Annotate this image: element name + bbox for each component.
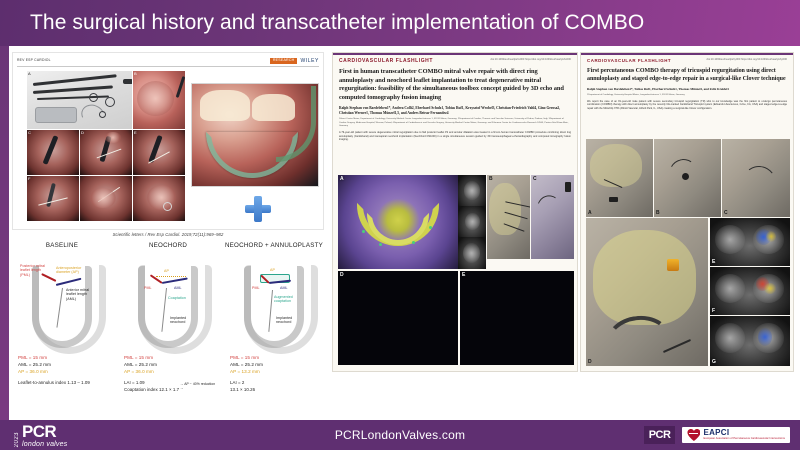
- figure-panel-step: C: [27, 130, 79, 175]
- panel-label: E: [134, 130, 137, 135]
- paper-title: First in human transcatheter COMBO mitra…: [333, 64, 577, 102]
- catheter: [532, 192, 570, 235]
- heart-icon: [687, 429, 700, 441]
- mechanism-diagram-row: BASELINE Posterior mitral leaflet length…: [12, 242, 324, 410]
- journal-header-right: RESEARCH WILEY: [270, 58, 319, 64]
- leaflet: [200, 90, 250, 121]
- anchor-marker: [412, 241, 415, 244]
- ct-structure: [464, 181, 481, 200]
- diagram-neochord: NEOCHORD AP PML AML Coaptation Implanted…: [118, 242, 218, 410]
- eapci-subtitle: European Association of Percutaneous Car…: [703, 438, 785, 441]
- panel-label: E: [462, 272, 465, 278]
- reduction-arrow-note: → AP − 40% reduction →: [180, 382, 218, 391]
- panel-label: E: [712, 259, 715, 265]
- figure-panel-ct-slice: [458, 237, 486, 269]
- delivery-device: [609, 197, 618, 202]
- instrument-ring: [105, 97, 115, 107]
- figure-panel-step: F: [27, 176, 79, 221]
- panel-label: B: [134, 71, 137, 76]
- echo-structure: [715, 323, 745, 353]
- paper-section-label: CARDIOVASCULAR FLASHLIGHT: [587, 58, 671, 63]
- instrument-plate: [35, 107, 77, 123]
- paper-doi: doi:10.1093/eurheartj/ehy000 https://doi…: [707, 58, 787, 62]
- instrument-shaft: [33, 85, 113, 94]
- journal-badge: RESEARCH: [270, 58, 298, 64]
- paper-authors: Ralph Stephan von Bardeleben1*, Tobias R…: [581, 83, 793, 91]
- neochord-thread: [39, 198, 68, 206]
- annotation-neochord: Implanted neochord: [276, 316, 300, 325]
- panel-label: C: [533, 176, 537, 182]
- mitraclip-device: [667, 259, 679, 271]
- footer-logos: PCR EAPCI European Association of Percut…: [644, 426, 790, 444]
- figure-panel-step: E: [133, 130, 185, 175]
- panel-label: C: [724, 210, 728, 216]
- cardiac-silhouette: [593, 230, 695, 325]
- instrument-ring: [99, 111, 106, 118]
- surgical-figure-grid: A B C: [27, 71, 185, 219]
- anchor-marker: [362, 230, 365, 233]
- panel-label: D: [588, 359, 592, 365]
- figure-panel-step: D: [80, 130, 132, 175]
- catheter: [276, 86, 316, 162]
- annotation-aml: Anterior mitral leaflet length (AML): [66, 288, 92, 301]
- flow-jet: [764, 283, 775, 294]
- instrument-tip: [123, 79, 132, 84]
- figure-panel-fluoro: C: [531, 175, 574, 259]
- annotation-ap: AP: [164, 269, 169, 273]
- panel-label: C: [28, 130, 31, 135]
- annotation-ap: Anteroposterior diameter (AP): [56, 266, 86, 275]
- figure-panel-echo: F: [710, 267, 790, 315]
- figure-panel-fluoro: B: [654, 139, 721, 217]
- echo-structure: [715, 225, 745, 254]
- annotation-aml: AML: [280, 286, 288, 290]
- stat-pml: PML = 15 mm: [18, 354, 112, 361]
- stat-aml: AML = 25.2 mm: [124, 361, 218, 368]
- paper-card-tricuspid: CARDIOVASCULAR FLASHLIGHT doi:10.1093/eu…: [580, 52, 794, 372]
- panel-label: F: [28, 176, 30, 181]
- annotation-coaptation: Coaptation: [168, 296, 186, 300]
- delivery-device: [565, 182, 571, 192]
- eapci-text: EAPCI European Association of Percutaneo…: [703, 429, 785, 441]
- stat-pml: PML = 15 mm: [124, 354, 218, 361]
- diagram-baseline: BASELINE Posterior mitral leaflet length…: [12, 242, 112, 410]
- diagram-neochord-annuloplasty: NEOCHORD + ANNULOPLASTY AP PML AML Augme…: [224, 242, 324, 410]
- panel-label: A: [28, 71, 31, 76]
- ap-dimension: [156, 276, 186, 277]
- neochord-thread: [96, 149, 121, 159]
- suture-knot: [163, 202, 172, 211]
- stat-aml: AML = 25.2 mm: [18, 361, 112, 368]
- annotation-coaptation: Augmented coaptation: [274, 295, 298, 304]
- left-column: REV ESP CARDIOL RESEARCH WILEY A: [12, 52, 324, 414]
- cardiac-silhouette: [590, 144, 642, 188]
- instrument-shaft: [37, 95, 109, 100]
- page-title: The surgical history and transcatheter i…: [0, 11, 644, 35]
- annotation-aml: AML: [174, 286, 182, 290]
- surgical-instrument: [46, 183, 56, 207]
- figure-panel-step: [133, 176, 185, 221]
- figure-panel-ct-slice: [458, 175, 486, 206]
- diagram-title: BASELINE: [12, 242, 112, 258]
- left-accent-rail: [0, 46, 9, 420]
- figure-panel-step: [80, 176, 132, 221]
- ct-structure: [465, 213, 480, 230]
- ventricle-schematic: AP PML AML Augmented coaptation Implante…: [238, 258, 310, 350]
- panel-label: B: [656, 210, 660, 216]
- paper-title: First percutaneous COMBO therapy of tric…: [581, 63, 793, 83]
- ventricle-schematic: AP PML AML Coaptation Implanted neochord: [132, 258, 204, 350]
- slide-header: The surgical history and transcatheter i…: [0, 0, 800, 46]
- annotation-ap: AP: [270, 268, 275, 272]
- paper-figure-block: A B C D: [586, 139, 788, 367]
- diagram-stats: PML = 15 mm AML = 25.2 mm AP = 13.2 mm L…: [230, 354, 324, 394]
- figure-panel-echo-grid: E: [460, 271, 574, 365]
- surgical-instrument: [42, 135, 58, 165]
- slide-footer: 2023 PCR london valves PCRLondonValves.c…: [0, 420, 800, 450]
- heart-tissue: [90, 188, 116, 209]
- ventricle-schematic: Posterior mitral leaflet length (PML) An…: [26, 258, 98, 350]
- panel-label: B: [489, 176, 493, 182]
- ventricle-wall: [138, 266, 198, 348]
- panel-label: D: [81, 130, 84, 135]
- leaflet-grasp: [105, 132, 121, 144]
- panel-label: G: [712, 359, 716, 365]
- flow-jet: [766, 231, 776, 242]
- diagram-title: NEOCHORD: [118, 242, 218, 258]
- annotation-pml: PML: [144, 286, 152, 290]
- paper-abstract: We report the case of an 81-year-old mal…: [581, 97, 793, 111]
- ventricle-wall: [32, 266, 92, 348]
- journal-header: REV ESP CARDIOL RESEARCH WILEY: [17, 56, 319, 67]
- paper-top-accent: [581, 53, 793, 55]
- figure-panel-fluoro: C: [722, 139, 790, 217]
- stat-ap: AP = 13.2 mm: [230, 368, 324, 375]
- figure-panel-ct-slice: [458, 206, 486, 237]
- paper-authors: Ralph Stephan von Bardeleben1*, Andrea C…: [333, 102, 577, 116]
- paper-top-accent: [333, 53, 577, 55]
- stat-footnote-2: 13.1 × 10.26: [230, 387, 324, 393]
- ct-structure: [463, 243, 480, 263]
- stat-aml: AML = 25.2 mm: [230, 361, 324, 368]
- anchor-marker: [379, 243, 382, 246]
- surgical-figure-card: REV ESP CARDIOL RESEARCH WILEY A: [12, 52, 324, 230]
- instrument-ring: [89, 93, 98, 102]
- three-d-render: [191, 83, 319, 187]
- journal-logo: REV ESP CARDIOL: [17, 59, 51, 62]
- panel-label: A: [588, 210, 592, 216]
- figure-panel-fluoro: A: [586, 139, 653, 217]
- annotation-pml: Posterior mitral leaflet length (PML): [20, 264, 46, 277]
- figure-panel-echo: G: [710, 316, 790, 366]
- figure-panel-heart: B: [133, 71, 185, 129]
- stat-ap: AP = 36.0 mm: [124, 368, 218, 375]
- figure-panel-echo: E: [710, 218, 790, 266]
- echo-structure: [715, 274, 745, 303]
- panel-label: A: [340, 176, 344, 182]
- catheter: [740, 163, 778, 201]
- paper-card-mitral: CARDIOVASCULAR FLASHLIGHT doi:10.1093/eu…: [332, 52, 578, 372]
- slide-body: REV ESP CARDIOL RESEARCH WILEY A: [0, 46, 800, 420]
- figure-panel-ct-3d: A: [338, 175, 458, 269]
- eapci-name: EAPCI: [703, 429, 785, 437]
- paper-section-label: CARDIOVASCULAR FLASHLIGHT: [339, 58, 433, 64]
- paper-figure-block: A B: [338, 175, 572, 367]
- figure-panel-echo-3d: D: [338, 271, 458, 365]
- publisher-logo: WILEY: [300, 58, 319, 64]
- panel-label: F: [712, 308, 715, 314]
- panel-label: D: [340, 272, 344, 278]
- paper-abstract: A 79-year-old patient with severe degene…: [333, 128, 577, 142]
- figure-caption: Scientific letters / Rev Esp Cardiol. 20…: [12, 232, 324, 237]
- stat-footnote: LAI = 2: [230, 380, 324, 386]
- pcr-logo-small: PCR: [644, 426, 676, 444]
- instrument-shaft: [33, 74, 117, 86]
- annotation-neochord: Implanted neochord: [170, 316, 194, 325]
- anchor-marker: [429, 226, 432, 229]
- stat-ap: AP = 36.0 mm: [18, 368, 112, 375]
- stat-pml: PML = 15 mm: [230, 354, 324, 361]
- figure-panel-instruments: A: [27, 71, 132, 129]
- heart-tissue: [137, 81, 173, 116]
- stat-footnote: Leaflet-to-annulus index 1.13 – 1.09: [18, 380, 112, 386]
- diagram-stats: PML = 15 mm AML = 25.2 mm AP = 36.0 mm L…: [18, 354, 112, 386]
- annotation-pml: PML: [252, 286, 260, 290]
- paper-affiliations: 1Heart Center Mainz, Department of Cardi…: [333, 116, 577, 128]
- eapci-logo: EAPCI European Association of Percutaneo…: [682, 427, 790, 443]
- figure-panel-fluoro: B: [487, 175, 530, 259]
- plus-icon: [245, 196, 271, 222]
- figure-panel-fusion: D: [586, 218, 708, 366]
- paper-doi: doi:10.1093/eurheartj/ehx000 https://doi…: [491, 58, 571, 62]
- diagram-title: NEOCHORD + ANNULOPLASTY: [224, 242, 324, 258]
- vessel: [176, 76, 185, 98]
